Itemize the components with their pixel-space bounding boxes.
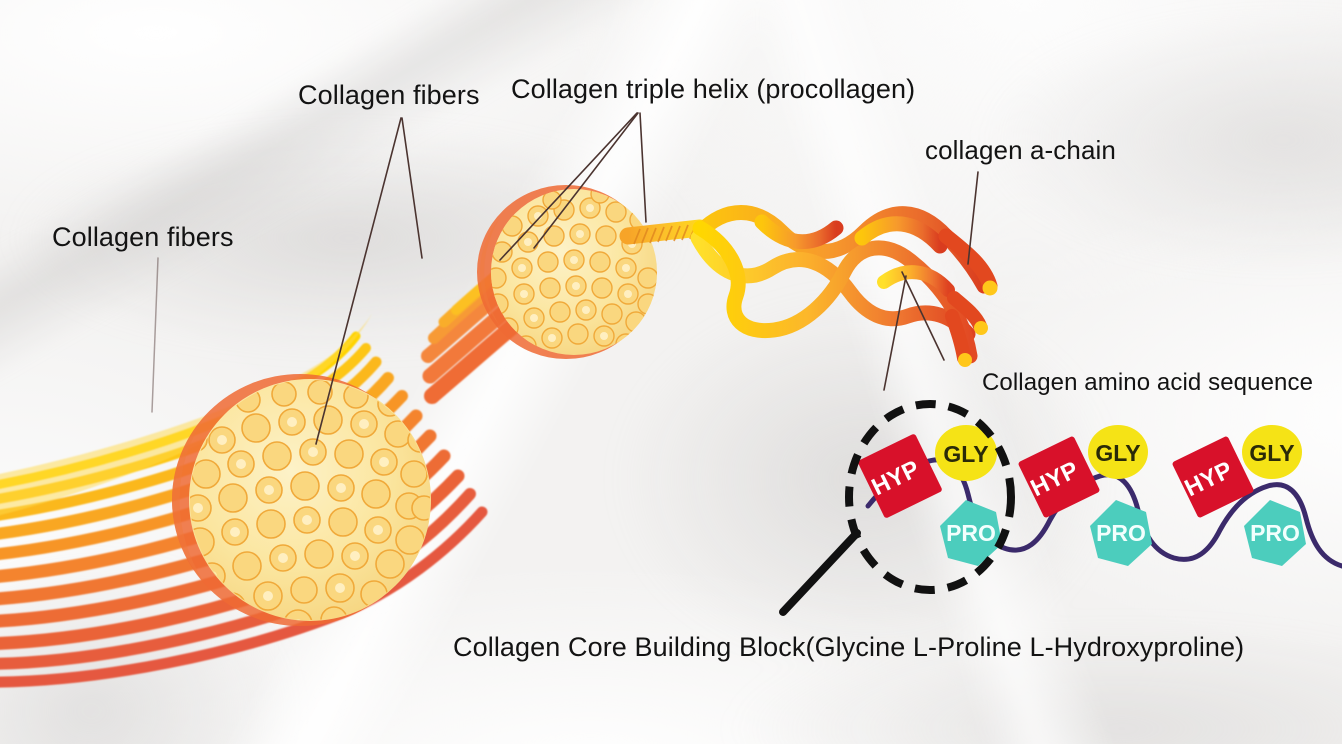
pointer-line [783,533,857,612]
residue-pro-1 [940,500,1002,566]
residue-pro-3 [1244,500,1306,566]
residue-gly-3 [1242,425,1302,479]
label-collagen-triple-helix: Collagen triple helix (procollagen) [511,74,915,105]
residue-hyp-2 [1018,436,1101,519]
triple-helix-braid [698,213,998,368]
fibril-cross-section-small [477,185,658,359]
label-amino-acid-sequence: Collagen amino acid sequence [982,369,1313,397]
procollagen-rope-segment [628,224,700,244]
collagen-diagram: HYP GLY PRO HYP GLY PRO HYP GLY PRO Coll… [0,0,1342,744]
label-collagen-fibers-left: Collagen fibers [52,222,234,253]
residue-gly-2 [1088,425,1148,479]
label-collagen-fibers-mid: Collagen fibers [298,80,480,111]
amino-acid-chain [857,425,1342,566]
residue-hyp-3 [1172,436,1255,519]
label-core-building-block-caption: Collagen Core Building Block(Glycine L-P… [453,632,1244,663]
residue-pro-2 [1090,500,1152,566]
label-collagen-alpha-chain: collagen a-chain [925,135,1116,166]
